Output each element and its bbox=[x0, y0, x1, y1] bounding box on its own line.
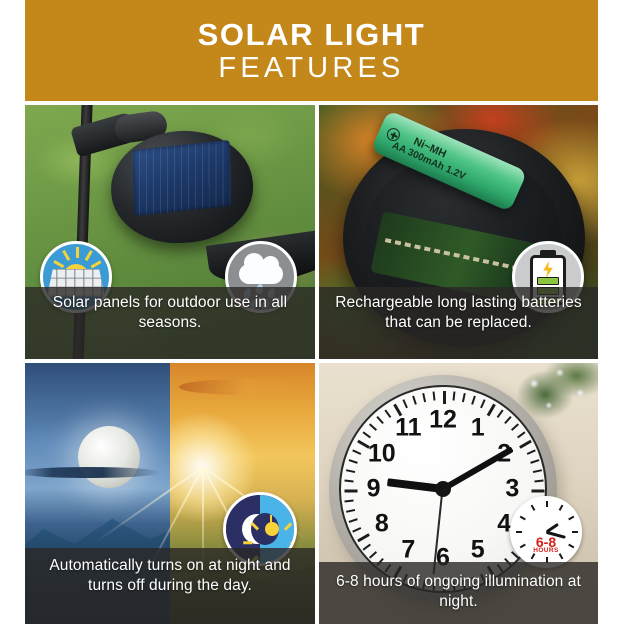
sun-icon bbox=[265, 522, 279, 536]
clock-numeral: 11 bbox=[395, 413, 421, 442]
infographic-page: SOLAR LIGHT FEATURES bbox=[0, 0, 624, 624]
clock-numeral: 3 bbox=[505, 475, 519, 504]
feature-panel-runtime-hours: 12 1 2 3 4 5 6 7 8 9 10 11 bbox=[319, 363, 598, 624]
panel-caption: Rechargeable long lasting batteries that… bbox=[319, 287, 598, 359]
panel-caption: Solar panels for outdoor use in all seas… bbox=[25, 287, 315, 359]
feature-panel-auto-on-off: Automatically turns on at night and turn… bbox=[25, 363, 315, 624]
moon-graphic bbox=[78, 426, 140, 488]
clock-numeral: 5 bbox=[471, 536, 485, 565]
clock-center-cap bbox=[435, 481, 451, 497]
page-subtitle: FEATURES bbox=[218, 52, 404, 85]
clock-numeral: 8 bbox=[375, 509, 389, 538]
clock-numeral: 1 bbox=[471, 413, 485, 442]
header-banner: SOLAR LIGHT FEATURES bbox=[25, 0, 598, 101]
feature-grid: Solar panels for outdoor use in all seas… bbox=[0, 101, 624, 624]
clock-numeral: 12 bbox=[429, 405, 457, 434]
panel-caption: Automatically turns on at night and turn… bbox=[25, 548, 315, 624]
solar-cell bbox=[132, 140, 232, 216]
clock-numeral: 9 bbox=[367, 475, 381, 504]
panel-caption: 6-8 hours of ongoing illumination at nig… bbox=[319, 562, 598, 624]
hours-clock-icon: 6-8 HOURS bbox=[510, 496, 582, 568]
clock-numeral: 7 bbox=[401, 536, 415, 565]
clock-numeral: 10 bbox=[368, 440, 396, 469]
clock-minute-hand bbox=[442, 446, 514, 491]
page-title: SOLAR LIGHT bbox=[198, 19, 426, 51]
hours-badge-unit: HOURS bbox=[513, 547, 579, 554]
feature-panel-rechargeable-batteries: Ni~MH AA 300mAh 1.2V Rechargeable long l… bbox=[319, 105, 598, 359]
feature-panel-solar-panels: Solar panels for outdoor use in all seas… bbox=[25, 105, 315, 359]
